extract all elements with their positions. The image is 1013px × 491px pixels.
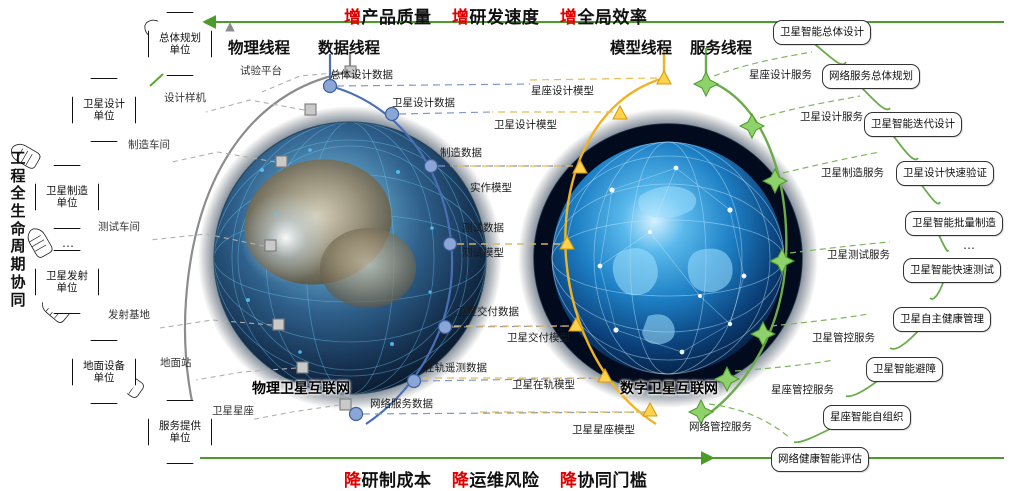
top-banner-item-2: 增全局效率 — [560, 8, 648, 28]
org-unit-5[interactable]: 服务提供单位 — [148, 400, 212, 464]
physical-node-label-1: 设计样机 — [164, 93, 206, 104]
capability-pill-0[interactable]: 卫星智能总体设计 — [773, 20, 871, 45]
bottom-banner-item-2: 降协同门槛 — [560, 471, 648, 491]
model-node-label-5: 卫星在轨模型 — [512, 380, 575, 391]
top-banner-rest-2: 全局效率 — [577, 8, 647, 28]
data-node-label-0: 总体设计数据 — [330, 70, 393, 81]
capability-pill-9[interactable]: 网络健康智能评估 — [771, 447, 869, 472]
physical-globe-caption: 物理卫星互联网 — [252, 378, 350, 398]
capability-pill-3[interactable]: 卫星设计快速验证 — [896, 161, 994, 186]
bottom-banner: 降研制成本 降运维风险 降协同门槛 — [344, 466, 661, 491]
model-node-label-6: 卫星星座模型 — [572, 425, 635, 436]
top-banner-item-1: 增研发速度 — [452, 8, 546, 28]
service-node-label-1: 卫星设计服务 — [800, 112, 858, 123]
digital-globe-caption: 数字卫星互联网 — [620, 378, 718, 398]
data-node-label-4: 卫星交付数据 — [456, 307, 519, 318]
org-unit-2[interactable]: 卫星制造单位 — [35, 165, 99, 229]
capability-pill-1[interactable]: 网络服务总体规划 — [822, 64, 920, 89]
data-node-label-6: 网络服务数据 — [370, 399, 433, 410]
capability-pill-5[interactable]: 卫星智能快速测试 — [903, 258, 1001, 283]
physical-node-label-5: 地面站 — [160, 358, 192, 369]
org-unit-ellipsis: … — [62, 236, 75, 250]
service-node-label-5: 星座管控服务 — [771, 385, 829, 396]
thread-header-model: 模型线程 — [610, 36, 672, 58]
model-node-label-3: 测试模型 — [462, 248, 504, 259]
service-node-label-2: 卫星制造服务 — [821, 168, 879, 179]
model-node-label-2: 实作模型 — [470, 183, 512, 194]
bottom-banner-hi-0: 降 — [344, 471, 362, 491]
top-banner-item-0: 增产品质量 — [344, 8, 438, 28]
org-unit-label-5: 服务提供单位 — [157, 420, 203, 444]
service-node-label-0: 星座设计服务 — [749, 70, 807, 81]
top-banner-hi-1: 增 — [452, 8, 470, 28]
model-node-label-1: 卫星设计模型 — [494, 120, 557, 131]
service-node-label-6: 网络管控服务 — [689, 422, 747, 433]
physical-node-label-6: 卫星星座 — [212, 406, 254, 417]
data-node-label-2: 制造数据 — [440, 148, 482, 159]
physical-node-label-4: 发射基地 — [108, 310, 150, 321]
org-unit-label-2: 卫星制造单位 — [44, 185, 90, 209]
top-banner-hi-0: 增 — [344, 8, 362, 28]
physical-node-label-0: 试验平台 — [240, 66, 282, 77]
capability-pill-4[interactable]: 卫星智能批量制造 — [905, 211, 1003, 236]
physical-node-label-3: 测试车间 — [98, 222, 140, 233]
org-unit-label-4: 地面设备单位 — [81, 360, 127, 384]
data-node-label-5: 在轨遥测数据 — [424, 363, 487, 374]
left-axis-title: 工程全生命周期协同 — [6, 150, 30, 309]
diagram-canvas: 增产品质量 增研发速度 增全局效率 降研制成本 降运维风险 降协同门槛 工程全生… — [0, 0, 1013, 491]
service-node-label-3: 卫星测试服务 — [827, 250, 885, 261]
model-node-label-4: 卫星交付模型 — [507, 333, 570, 344]
service-node-label-4: 卫星管控服务 — [812, 333, 870, 344]
bottom-banner-rest-0: 研制成本 — [362, 471, 432, 491]
capability-ellipsis: … — [963, 238, 976, 252]
bottom-banner-rest-1: 运维风险 — [469, 471, 539, 491]
data-node-label-1: 卫星设计数据 — [392, 98, 455, 109]
org-unit-label-1: 卫星设计单位 — [81, 98, 127, 122]
top-banner: 增产品质量 增研发速度 增全局效率 — [344, 3, 661, 28]
org-unit-0[interactable]: 总体规划单位 — [148, 12, 212, 76]
thread-header-service: 服务线程 — [690, 36, 752, 58]
bottom-banner-hi-1: 降 — [452, 471, 470, 491]
bottom-banner-item-0: 降研制成本 — [344, 471, 438, 491]
physical-node-label-2: 制造车间 — [128, 140, 170, 151]
capability-pill-8[interactable]: 星座智能自组织 — [823, 405, 911, 430]
bottom-banner-hi-2: 降 — [560, 471, 578, 491]
bottom-banner-rest-2: 协同门槛 — [577, 471, 647, 491]
thread-header-physical: 物理线程 — [228, 36, 290, 58]
capability-pill-2[interactable]: 卫星智能迭代设计 — [864, 112, 962, 137]
capability-pill-6[interactable]: 卫星自主健康管理 — [893, 307, 991, 332]
data-node-label-3: 测试数据 — [462, 223, 504, 234]
org-unit-3[interactable]: 卫星发射单位 — [35, 250, 99, 314]
digital-globe — [518, 108, 818, 408]
top-banner-rest-1: 研发速度 — [469, 8, 539, 28]
capability-pill-7[interactable]: 卫星智能避障 — [866, 357, 943, 382]
org-unit-4[interactable]: 地面设备单位 — [72, 340, 136, 404]
bottom-banner-item-1: 降运维风险 — [452, 471, 546, 491]
model-node-label-0: 星座设计模型 — [531, 86, 594, 97]
org-unit-label-3: 卫星发射单位 — [44, 270, 90, 294]
thread-header-data: 数据线程 — [318, 36, 380, 58]
top-banner-hi-2: 增 — [560, 8, 578, 28]
top-banner-rest-0: 产品质量 — [362, 8, 432, 28]
org-unit-label-0: 总体规划单位 — [157, 32, 203, 56]
